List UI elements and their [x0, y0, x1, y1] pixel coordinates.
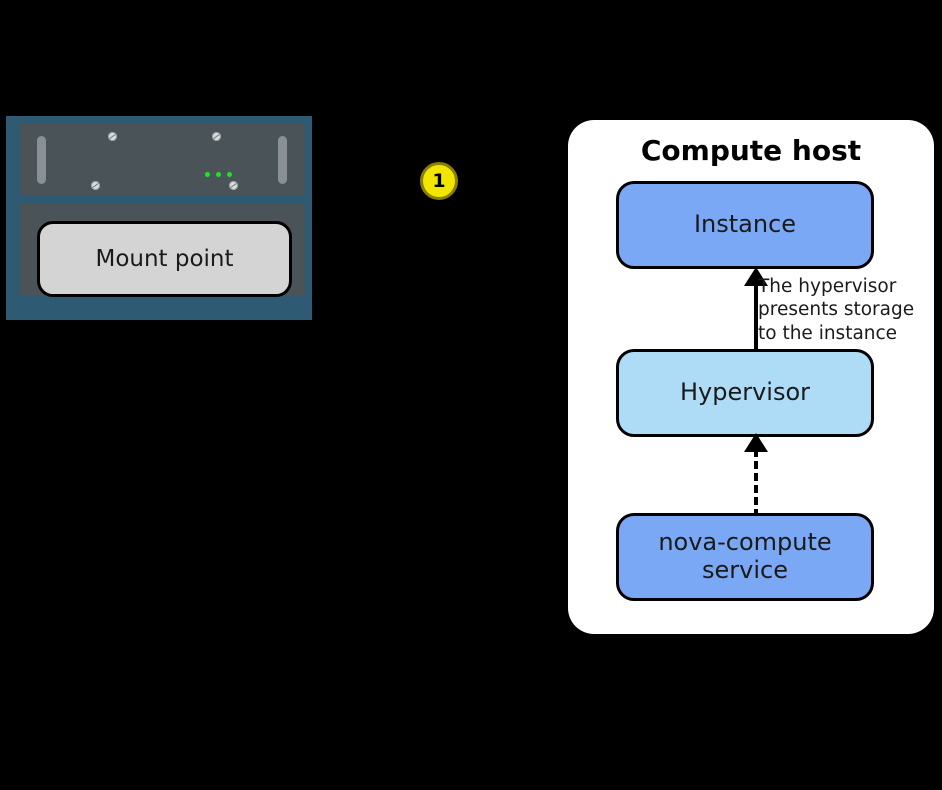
hypervisor-box: Hypervisor [616, 349, 874, 437]
compute-host-title: Compute host [568, 134, 934, 167]
rack-handle-right-icon [278, 136, 287, 184]
step-badge-1-label: 1 [432, 170, 445, 192]
hypervisor-note-text: The hypervisor presents storage to the i… [758, 275, 938, 345]
mount-point-box: Mount point [37, 221, 292, 297]
arrow-shaft-dashed [754, 449, 758, 517]
screw-icon [229, 181, 238, 190]
screw-icon [108, 132, 117, 141]
status-led-icon [205, 172, 210, 177]
mount-point-label: Mount point [95, 246, 233, 272]
instance-box: Instance [616, 181, 874, 269]
status-led-icon [227, 172, 232, 177]
arrow-nova-compute-to-hypervisor [744, 433, 768, 517]
nova-compute-service-label: nova-compute service [658, 529, 831, 584]
storage-server-unit [20, 124, 305, 196]
screw-icon [212, 132, 221, 141]
rack-handle-left-icon [37, 136, 46, 184]
status-led-icon [216, 172, 221, 177]
compute-host-panel: Compute host Instance The hypervisor pre… [568, 120, 934, 634]
screw-icon [91, 181, 100, 190]
nova-compute-service-box: nova-compute service [616, 513, 874, 601]
step-badge-1: 1 [420, 162, 458, 200]
storage-array-graphic: Mount point [6, 116, 312, 320]
instance-label: Instance [694, 211, 796, 239]
hypervisor-label: Hypervisor [680, 379, 810, 407]
